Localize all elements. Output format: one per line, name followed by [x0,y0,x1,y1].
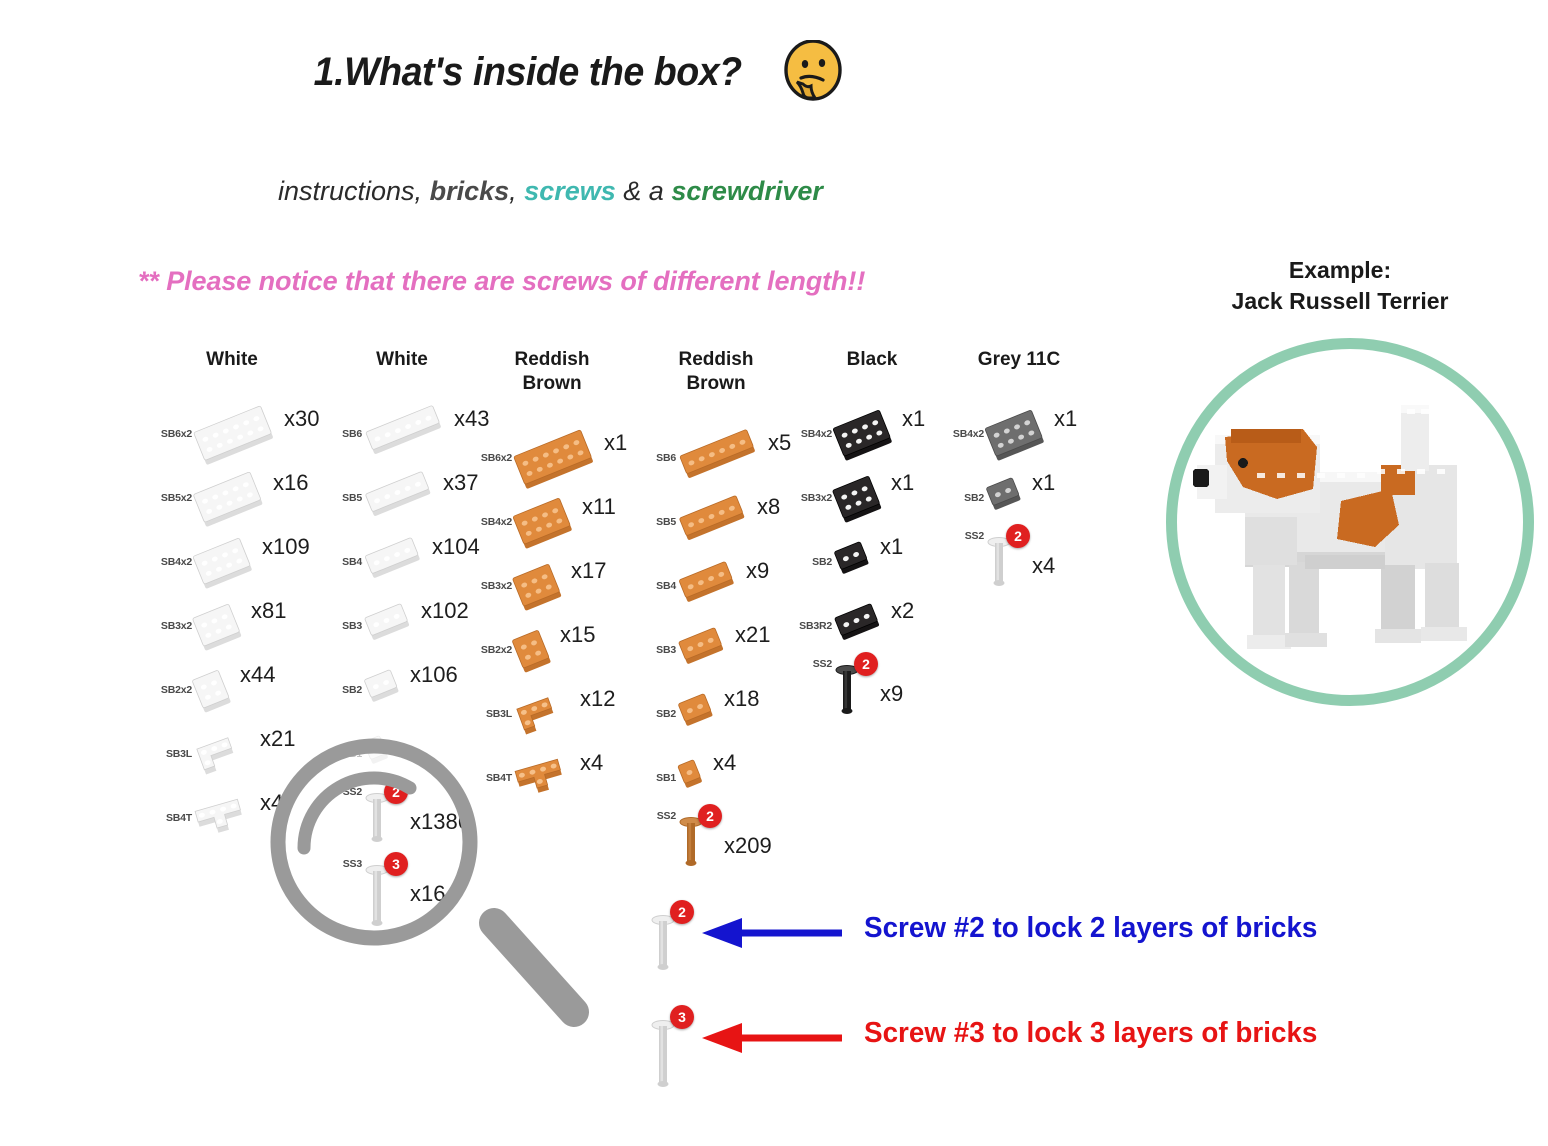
part-code-label: SB2x2 [152,684,192,696]
brick-icon-plate [192,468,277,528]
part-row: SB4x2 x11 [472,490,632,554]
example-label: Example: [1150,255,1530,286]
part-code-label: SS2 [322,786,362,798]
part-code-label: SB6 [636,452,676,464]
legend-badge: 2 [670,900,694,924]
subtitle-comma: , [509,176,517,206]
part-quantity: x2 [891,598,914,624]
brick-icon-L [192,724,264,784]
part-code-label: SB6x2 [472,452,512,464]
parts-column-2: WhiteSB6 x43SB5 x37SB4 x104SB3 x102SB2 x… [322,348,482,930]
part-quantity: x9 [746,558,769,584]
subtitle-bricks: bricks [430,176,510,206]
part-quantity: x9 [880,681,903,707]
part-row: SB4x2 x109 [152,530,312,594]
part-row: SB4x2 x1 [792,402,952,466]
subtitle-screws: screws [524,176,616,206]
part-row: SB3 x102 [322,594,482,658]
part-row: SB1 [322,722,482,786]
part-code-label: SB4x2 [792,428,832,440]
column-header-line1: Black [847,349,898,370]
part-code-label: SB4 [322,556,362,568]
part-quantity: x106 [410,662,458,688]
legend-row: 3 Screw #3 to lock 3 layers of bricks [648,1013,1336,1098]
part-row: SB6 x43 [322,402,482,466]
brick-icon-plate [512,428,608,488]
screw-layer-badge: 2 [698,804,722,828]
screw-layer-badge: 2 [1006,524,1030,548]
part-code-label: SB2 [792,556,832,568]
brick-icon-T [512,748,584,808]
part-row: SB4T x4 [152,786,312,850]
column-header-line1: White [376,349,428,370]
legend-badge: 3 [670,1005,694,1029]
part-quantity: x17 [571,558,606,584]
legend-label: Screw #2 to lock 2 layers of bricks [864,912,1317,945]
brick-icon-plate [192,532,266,592]
part-quantity: x12 [580,686,615,712]
thinking-face-emoji [781,40,845,104]
part-row: SB2 x18 [636,682,796,746]
part-row: SB2x2 x15 [472,618,632,682]
brick-icon-plate [676,684,728,744]
brick-icon-plate [362,660,414,720]
screw-icon: 2 [676,810,722,874]
part-row: SB3x2 x1 [792,466,952,530]
screw-icon: 2 [832,658,878,722]
brick-icon-plate [832,596,895,656]
part-row: SB2 x106 [322,658,482,722]
part-row: SB2 x1 [944,466,1094,530]
column-header: ReddishBrown [636,348,796,396]
part-row: SB4 x9 [636,554,796,618]
part-row: SB4 x104 [322,530,482,594]
screw-icon: 2 [984,530,1030,594]
part-code-label: SB2 [636,708,676,720]
parts-column-1: WhiteSB6x2 x30SB5x2 x16SB4x2 x109SB3x2 x… [152,348,312,850]
part-row: SB4x2 x1 [944,402,1094,466]
part-code-label: SB3x2 [152,620,192,632]
part-row: SB5 x37 [322,466,482,530]
brick-icon-plate [832,468,895,528]
part-code-label: SB3L [472,708,512,720]
part-code-label: SB4T [152,812,192,824]
parts-column-4: ReddishBrownSB6 x5SB5 x8SB4 x9SB3 x21SB2… [636,348,796,882]
column-rows: SB4x2 x1SB2 x1SS2 2x4 [944,402,1094,602]
screw-icon: 2 [362,786,408,850]
screw-length-notice: ** Please notice that there are screws o… [138,266,865,297]
page-title: 1.What's inside the box? [314,50,742,95]
column-header-line1: Reddish [515,349,590,370]
part-row: SB6 x5 [636,426,796,490]
part-row: SB2 x1 [792,530,952,594]
part-code-label: SB2 [322,684,362,696]
screw-row: SS3 3x16 [322,858,482,930]
column-header-line1: Grey 11C [978,349,1060,370]
part-row: SB3 x21 [636,618,796,682]
brick-icon-plate [362,404,458,464]
part-quantity: x4 [713,750,736,776]
contents-subtitle: instructions, bricks, screws & a screwdr… [278,176,823,207]
part-quantity: x1 [891,470,914,496]
legend-row: 2 Screw #2 to lock 2 layers of bricks [648,908,1336,981]
brick-icon-plate [984,404,1058,464]
part-row: SB3x2 x17 [472,554,632,618]
part-quantity: x16 [410,881,445,907]
example-image-frame [1166,338,1534,706]
part-quantity: x15 [560,622,595,648]
legend-screw-icon: 2 [648,908,694,981]
part-code-label: SB3L [152,748,192,760]
brick-icon-plate [192,596,255,656]
part-quantity: x209 [724,833,772,859]
part-code-label: SB3 [636,644,676,656]
column-header: Black [792,348,952,372]
part-code-label: SB5 [322,492,362,504]
legend-screw-icon: 3 [648,1013,694,1098]
screw-row: SS2 2x209 [636,810,796,882]
brick-icon-T [192,788,264,848]
part-quantity: x30 [284,406,319,432]
left-arrow-icon [694,1021,854,1060]
brick-icon-plate [676,428,772,488]
part-quantity: x1 [1032,470,1055,496]
part-code-label: SB5x2 [152,492,192,504]
brick-icon-plate [512,556,575,616]
part-code-label: SB3R2 [792,620,832,632]
part-code-label: SB6x2 [152,428,192,440]
part-code-label: SS2 [636,810,676,822]
part-code-label: SS3 [322,858,362,870]
part-code-label: SB4x2 [944,428,984,440]
brick-icon-plate [832,404,906,464]
brick-icon-plate [192,404,288,464]
column-header: White [152,348,312,372]
parts-column-6: Grey 11CSB4x2 x1SB2 x1SS2 2x4 [944,348,1094,602]
screw-icon: 3 [362,858,408,922]
part-row: SB3R2 x2 [792,594,952,658]
brick-icon-plate [362,468,447,528]
screw-row: SS2 2x1386 [322,786,482,858]
part-code-label: SB4x2 [152,556,192,568]
part-code-label: SB1 [322,748,362,760]
part-row: SB1 x4 [636,746,796,810]
brick-icon-plate [984,468,1036,528]
part-quantity: x21 [260,726,295,752]
brick-icon-L [512,684,584,744]
part-row: SB6x2 x30 [152,402,312,466]
part-code-label: SB6 [322,428,362,440]
brick-icon-plate [362,596,425,656]
example-heading: Example: Jack Russell Terrier [1150,255,1530,317]
screw-row: SS2 2x4 [944,530,1094,602]
instruction-sheet: 1.What's inside the box? instructions, b… [0,0,1548,1146]
column-header-line1: White [206,349,258,370]
part-row: SB3x2 x81 [152,594,312,658]
part-row: SB5 x8 [636,490,796,554]
brick-icon-plate [832,532,884,592]
part-quantity: x18 [724,686,759,712]
part-quantity: x8 [757,494,780,520]
part-row: SB2x2 x44 [152,658,312,722]
part-code-label: SB3 [322,620,362,632]
part-quantity: x109 [262,534,310,560]
example-breed: Jack Russell Terrier [1150,286,1530,317]
subtitle-amp: & a [623,176,664,206]
column-rows: SB6 x43SB5 x37SB4 x104SB3 x102SB2 x106SB… [322,402,482,930]
part-quantity: x11 [582,494,616,520]
brick-icon-plate [512,620,564,680]
column-header-line1: Reddish [679,349,754,370]
subtitle-screwdriver: screwdriver [671,176,823,206]
brick-icon-plate [676,620,739,680]
parts-column-3: ReddishBrownSB6x2 x1SB4x2 x11SB3x2 x17SB… [472,348,632,810]
column-header-line2: Brown [686,373,745,394]
part-quantity: x4 [260,790,283,816]
part-code-label: SB4x2 [472,516,512,528]
left-arrow-icon [694,916,854,955]
part-quantity: x1 [880,534,903,560]
legend-label: Screw #3 to lock 3 layers of bricks [864,1017,1317,1050]
part-quantity: x4 [580,750,603,776]
part-row: SB3L x21 [152,722,312,786]
brick-icon-plate [676,492,761,552]
brick-icon-plate [512,492,586,552]
part-quantity: x1 [1054,406,1077,432]
screw-layer-badge: 2 [384,780,408,804]
brick-icon-plate [192,660,244,720]
part-code-label: SB3x2 [472,580,512,592]
part-quantity: x21 [735,622,770,648]
column-rows: SB6 x5SB5 x8SB4 x9SB3 x21SB2 x18SB1 [636,426,796,882]
part-quantity: x102 [421,598,469,624]
brick-icon-plate [362,532,436,592]
column-rows: SB6x2 x1SB4x2 x11SB3x2 x17SB2x2 x15SB3L [472,426,632,810]
parts-column-5: BlackSB4x2 x1SB3x2 x1SB2 x1SB3R2 x2SS2 2… [792,348,952,730]
column-rows: SB4x2 x1SB3x2 x1SB2 x1SB3R2 x2SS2 2x9 [792,402,952,730]
part-row: SB6x2 x1 [472,426,632,490]
page-title-row: 1.What's inside the box? [300,40,845,104]
part-quantity: x44 [240,662,275,688]
part-code-label: SB2 [944,492,984,504]
part-code-label: SB3x2 [792,492,832,504]
part-row: SB5x2 x16 [152,466,312,530]
part-code-label: SS2 [792,658,832,670]
part-row: SB4T x4 [472,746,632,810]
part-code-label: SB1 [636,772,676,784]
part-quantity: x1386 [410,809,470,835]
part-code-label: SB4T [472,772,512,784]
part-code-label: SS2 [944,530,984,542]
part-quantity: x16 [273,470,308,496]
screw-layer-badge: 3 [384,852,408,876]
column-rows: SB6x2 x30SB5x2 x16SB4x2 x109SB3x2 x81SB2… [152,402,312,850]
column-header-line2: Brown [522,373,581,394]
column-header: White [322,348,482,372]
subtitle-instructions: instructions, [278,176,422,206]
jack-russell-terrier-model [1185,377,1534,677]
part-quantity: x1 [902,406,925,432]
part-code-label: SB2x2 [472,644,512,656]
screw-layer-badge: 2 [854,652,878,676]
part-quantity: x1 [604,430,627,456]
part-code-label: SB4 [636,580,676,592]
column-header: ReddishBrown [472,348,632,396]
brick-icon-plate [362,724,403,784]
screw-row: SS2 2x9 [792,658,952,730]
column-header: Grey 11C [944,348,1094,372]
brick-icon-plate [676,748,717,808]
part-code-label: SB5 [636,516,676,528]
part-row: SB3L x12 [472,682,632,746]
brick-icon-plate [676,556,750,616]
part-quantity: x4 [1032,553,1055,579]
part-quantity: x5 [768,430,791,456]
part-quantity: x81 [251,598,286,624]
